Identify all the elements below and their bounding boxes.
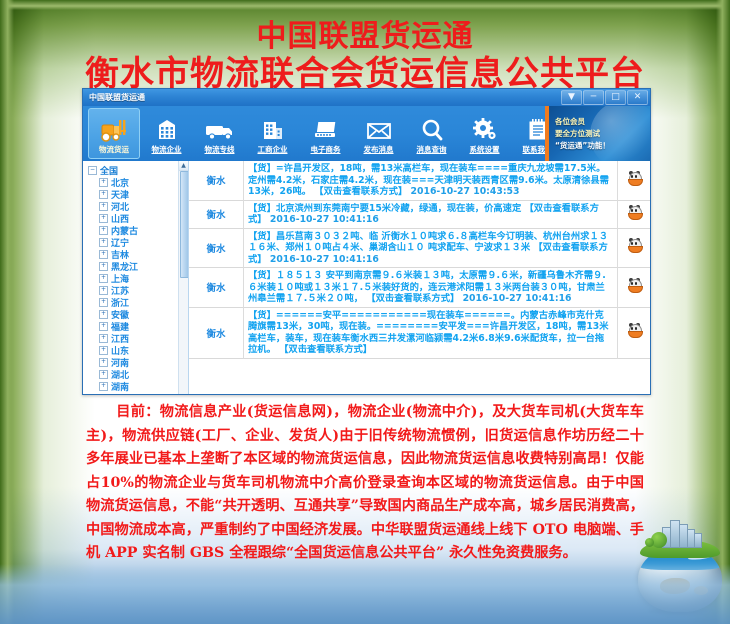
message-timestamp: 2016-10-27 10:41:16 [270, 214, 379, 225]
tree-node-12[interactable]: +安徽 [86, 308, 188, 320]
toolbar-item-wuliuqiye[interactable]: 物流企业 [140, 106, 193, 161]
minimize-icon[interactable]: ─ [583, 90, 604, 105]
cell-city: 衡水 [189, 228, 244, 268]
member-notice-banner[interactable]: 各位会员 要全方位测试 “货运通”功能！ [545, 106, 650, 161]
tree-node-11[interactable]: +浙江 [86, 296, 188, 308]
window-title-label: 中国联盟货运通 [89, 92, 145, 103]
table-row[interactable]: 衡水【货】北京滨州到东莞南宁要15米冷藏，绿通，现在装，价高速定 【双击查看联系… [189, 200, 650, 228]
toolbar-label: 消息查询 [417, 144, 447, 155]
tree-node-4[interactable]: +山西 [86, 212, 188, 224]
tree-node-7[interactable]: +吉林 [86, 248, 188, 260]
table-row[interactable]: 衡水【货】=许昌开发区，18吨，需13米高栏车，现在装车====重庆九龙坡需17… [189, 161, 650, 200]
message-timestamp: 2016-10-27 10:41:16 [463, 293, 572, 304]
tree-toggle-icon[interactable]: + [99, 262, 108, 271]
tree-node-8[interactable]: +黑龙江 [86, 260, 188, 272]
poster-page: 中国联盟货运通 衡水市物流联合会货运信息公共平台 中国联盟货运通 ▼ ─ □ ✕ [0, 0, 730, 624]
region-tree-sidebar[interactable]: − 全国 +北京+天津+河北+山西+内蒙古+辽宁+吉林+黑龙江+上海+江苏+浙江… [83, 161, 189, 394]
toolbar-item-wuliuhuoyun[interactable]: 物流货运 [88, 108, 140, 159]
tree-toggle-icon[interactable]: + [99, 346, 108, 355]
tree-node-17[interactable]: +湖北 [86, 368, 188, 380]
tree-children: +北京+天津+河北+山西+内蒙古+辽宁+吉林+黑龙江+上海+江苏+浙江+安徽+福… [86, 176, 188, 392]
tree-node-10[interactable]: +江苏 [86, 284, 188, 296]
globe-landmass [660, 578, 690, 594]
cell-contact-icon[interactable] [618, 200, 651, 228]
tree-node-16[interactable]: +河南 [86, 356, 188, 368]
cell-contact-icon[interactable] [618, 268, 651, 308]
office-icon [259, 115, 287, 143]
close-icon[interactable]: ✕ [627, 90, 648, 105]
scroll-thumb[interactable] [180, 171, 189, 278]
cell-city: 衡水 [189, 268, 244, 308]
tree-toggle-icon[interactable]: + [99, 214, 108, 223]
toolbar-label: 物流货运 [99, 144, 129, 155]
window-title-bar: 中国联盟货运通 ▼ ─ □ ✕ [83, 89, 650, 106]
gear-icon [471, 115, 499, 143]
toolbar-item-dianzishangwu[interactable]: 电子商务 [299, 106, 352, 161]
tree-toggle-icon[interactable]: + [99, 226, 108, 235]
dropdown-icon[interactable]: ▼ [561, 90, 582, 105]
toolbar-item-xiaoxichaxun[interactable]: 消息查询 [405, 106, 458, 161]
message-table-container[interactable]: 衡水【货】=许昌开发区，18吨，需13米高栏车，现在装车====重庆九龙坡需17… [189, 161, 650, 394]
cell-message[interactable]: 【货】=许昌开发区，18吨，需13米高栏车，现在装车====重庆九龙坡需17.5… [244, 161, 618, 200]
truck-icon [204, 115, 236, 143]
tree-node-5[interactable]: +内蒙古 [86, 224, 188, 236]
qq-penguin-icon[interactable] [628, 238, 641, 253]
promotional-paragraph: 目前：物流信息产业(货运信息网)，物流企业(物流中介)，及大货车司机(大货车车主… [86, 401, 644, 566]
tree-node-14[interactable]: +江西 [86, 332, 188, 344]
tree-node-6[interactable]: +辽宁 [86, 236, 188, 248]
qq-penguin-icon[interactable] [628, 323, 641, 338]
toolbar-items: 物流货运 物流企业 [83, 106, 564, 161]
cell-contact-icon[interactable] [618, 307, 651, 358]
tree-toggle-icon[interactable]: + [99, 322, 108, 331]
cell-city: 衡水 [189, 307, 244, 358]
tree-toggle-icon[interactable]: + [99, 310, 108, 319]
toolbar-item-wuliuzhuanxian[interactable]: 物流专线 [193, 106, 246, 161]
cell-message[interactable]: 【货】１８５１３ 安平到南京需９.６米装１３吨，太原需９.６米，新疆乌鲁木齐需９… [244, 268, 618, 308]
toolbar-label: 工商企业 [258, 144, 288, 155]
tree-toggle-icon[interactable]: + [99, 250, 108, 259]
table-row[interactable]: 衡水【货】======安平===========现在装车======。内蒙古赤峰… [189, 307, 650, 358]
computer-icon [311, 115, 341, 143]
building-icon [694, 533, 702, 548]
left-green-border [0, 0, 14, 624]
cell-message[interactable]: 【货】======安平===========现在装车======。内蒙古赤峰市克… [244, 307, 618, 358]
globe-city-graphic [634, 518, 726, 616]
tree-node-root[interactable]: − 全国 [86, 164, 188, 176]
tree-toggle-icon[interactable]: + [99, 334, 108, 343]
tree-toggle-icon[interactable]: + [99, 274, 108, 283]
tree-node-13[interactable]: +福建 [86, 320, 188, 332]
banner-glow [590, 106, 650, 161]
top-green-border [0, 0, 730, 10]
tree-toggle-icon[interactable]: + [99, 358, 108, 367]
tree-toggle-icon[interactable]: + [99, 190, 108, 199]
tree-toggle-icon[interactable]: − [88, 166, 97, 175]
tree-node-1[interactable]: +北京 [86, 176, 188, 188]
region-tree: − 全国 +北京+天津+河北+山西+内蒙古+辽宁+吉林+黑龙江+上海+江苏+浙江… [83, 161, 188, 392]
tree-toggle-icon[interactable]: + [99, 382, 108, 391]
toolbar-label: 物流专线 [205, 144, 235, 155]
qq-penguin-icon[interactable] [628, 278, 641, 293]
tree-toggle-icon[interactable]: + [99, 298, 108, 307]
paragraph-text: 目前：物流信息产业(货运信息网)，物流企业(物流中介)，及大货车司机(大货车车主… [86, 404, 644, 561]
message-table: 衡水【货】=许昌开发区，18吨，需13米高栏车，现在装车====重庆九龙坡需17… [189, 161, 650, 359]
cell-contact-icon[interactable] [618, 161, 651, 200]
headline-primary: 中国联盟货运通 [0, 20, 730, 54]
toolbar-item-gongshangqiye[interactable]: 工商企业 [246, 106, 299, 161]
tree-toggle-icon[interactable]: + [99, 370, 108, 379]
message-table-body: 衡水【货】=许昌开发区，18吨，需13米高栏车，现在装车====重庆九龙坡需17… [189, 161, 650, 358]
cell-city: 衡水 [189, 200, 244, 228]
tree-node-18[interactable]: +湖南 [86, 380, 188, 392]
cell-city: 衡水 [189, 161, 244, 200]
forklift-icon [99, 115, 129, 143]
building-icon [153, 115, 181, 143]
window-controls: ▼ ─ □ ✕ [561, 89, 648, 106]
main-toolbar: 物流货运 物流企业 [83, 106, 650, 161]
tree-node-15[interactable]: +山东 [86, 344, 188, 356]
tree-toggle-icon[interactable]: + [99, 238, 108, 247]
toolbar-label: 物流企业 [152, 144, 182, 155]
maximize-icon[interactable]: □ [605, 90, 626, 105]
qq-penguin-icon[interactable] [628, 171, 641, 186]
tree-icon [645, 538, 654, 547]
table-row[interactable]: 衡水【货】昌乐莒南３０３２吨、临 沂衡水１０吨求６.８高栏车今订明装、杭州台州求… [189, 228, 650, 268]
tree-toggle-icon[interactable]: + [99, 286, 108, 295]
sidebar-scrollbar[interactable]: ▲ [178, 161, 188, 394]
tree-node-label: 湖南 [111, 380, 129, 393]
cell-message[interactable]: 【货】昌乐莒南３０３２吨、临 沂衡水１０吨求６.８高栏车今订明装、杭州台州求１３… [244, 228, 618, 268]
tree-toggle-icon[interactable]: + [99, 178, 108, 187]
toolbar-item-xitongshezhi[interactable]: 系统设置 [458, 106, 511, 161]
tree-toggle-icon[interactable]: + [99, 202, 108, 211]
toolbar-item-fabuxiaoxi[interactable]: 发布消息 [352, 106, 405, 161]
envelope-icon [364, 115, 394, 143]
message-timestamp: 2016-10-27 10:43:53 [411, 186, 520, 197]
qq-penguin-icon[interactable] [628, 205, 641, 220]
message-text: 【货】======安平===========现在装车======。内蒙古赤峰市克… [248, 310, 609, 356]
globe-landmass-secondary [694, 586, 708, 595]
toolbar-label: 电子商务 [311, 144, 341, 155]
scroll-up-icon[interactable]: ▲ [179, 161, 188, 171]
toolbar-label: 发布消息 [364, 144, 394, 155]
window-body: − 全国 +北京+天津+河北+山西+内蒙古+辽宁+吉林+黑龙江+上海+江苏+浙江… [83, 161, 650, 394]
tree-node-2[interactable]: +天津 [86, 188, 188, 200]
tree-node-9[interactable]: +上海 [86, 272, 188, 284]
application-window: 中国联盟货运通 ▼ ─ □ ✕ [82, 88, 651, 395]
toolbar-label: 系统设置 [470, 144, 500, 155]
table-row[interactable]: 衡水【货】１８５１３ 安平到南京需９.６米装１３吨，太原需９.６米，新疆乌鲁木齐… [189, 268, 650, 308]
cell-message[interactable]: 【货】北京滨州到东莞南宁要15米冷藏，绿通，现在装，价高速定 【双击查看联系方式… [244, 200, 618, 228]
search-icon [418, 115, 446, 143]
message-timestamp: 2016-10-27 10:41:16 [270, 254, 379, 265]
cell-contact-icon[interactable] [618, 228, 651, 268]
bottom-blue-band [0, 564, 730, 624]
tree-node-3[interactable]: +河北 [86, 200, 188, 212]
